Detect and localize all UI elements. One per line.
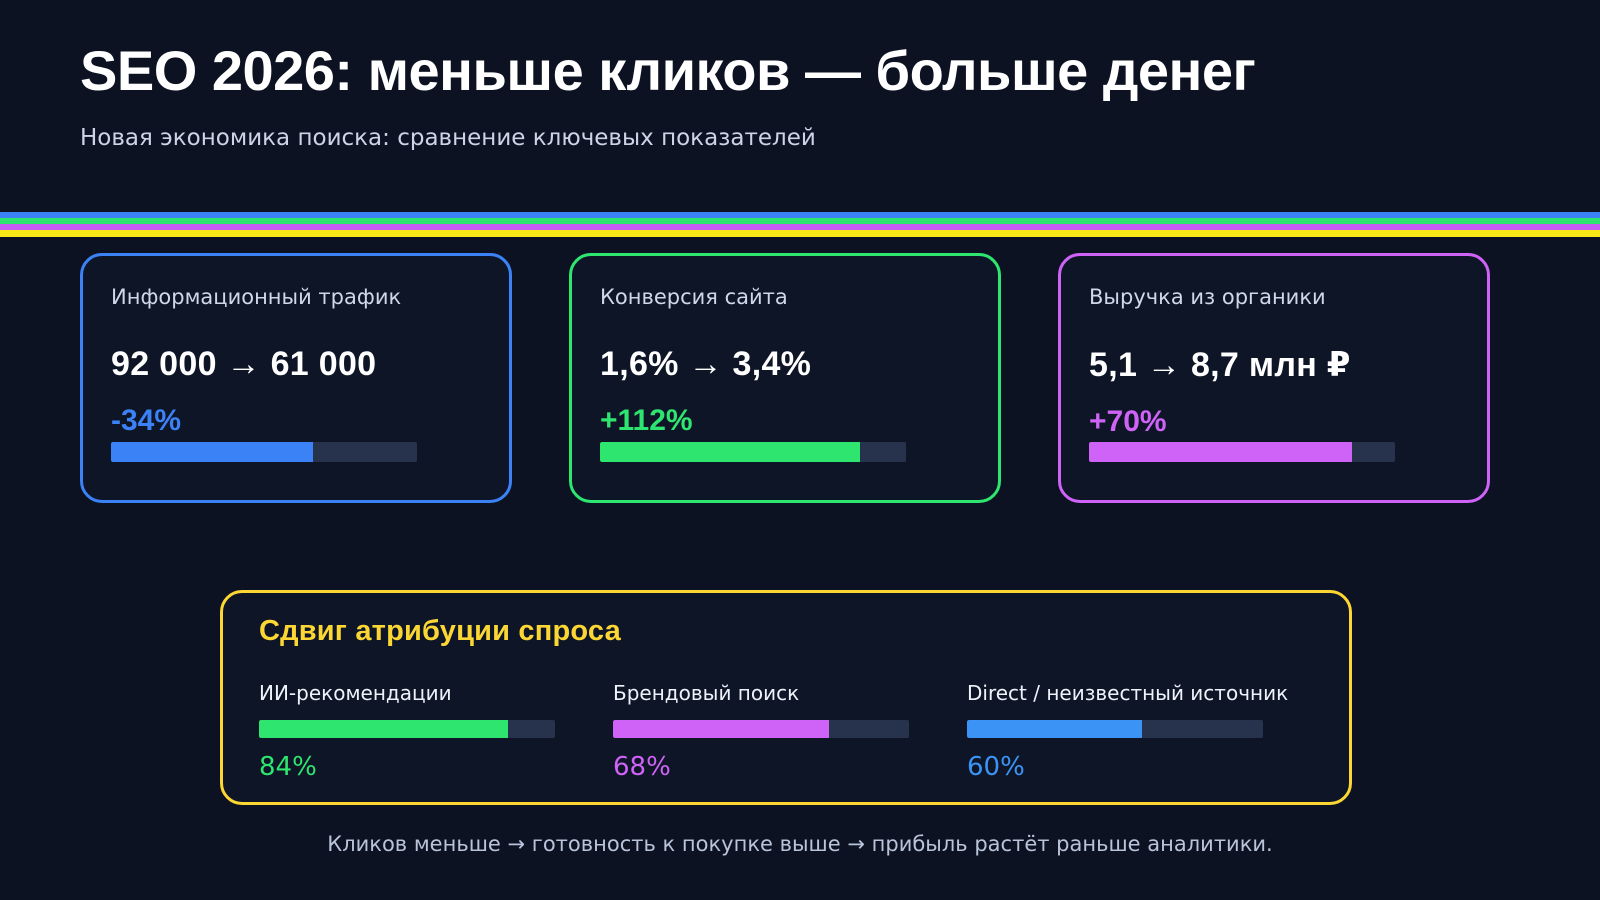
attribution-item-label: Брендовый поиск xyxy=(613,681,909,705)
metric-card-progress-fill xyxy=(1089,442,1352,462)
attribution-panel-title: Сдвиг атрибуции спроса xyxy=(259,615,1313,648)
page-title: SEO 2026: меньше кликов — больше денег xyxy=(80,42,1600,101)
attribution-progress-track xyxy=(259,720,555,738)
metric-cards-row: Информационный трафик 92 000 → 61 000 -3… xyxy=(80,253,1520,503)
rainbow-divider xyxy=(0,212,1600,237)
page-header: SEO 2026: меньше кликов — больше денег Н… xyxy=(0,0,1600,212)
metric-card-progress-fill xyxy=(600,442,860,462)
metric-card-value: 1,6% → 3,4% xyxy=(600,345,970,384)
attribution-item-direct-unknown[interactable]: Direct / неизвестный источник 60% xyxy=(967,681,1263,782)
attribution-progress-fill xyxy=(613,720,829,738)
page-subtitle: Новая экономика поиска: сравнение ключев… xyxy=(80,125,1600,151)
attribution-item-value: 84% xyxy=(259,752,555,782)
metric-card-progress-track xyxy=(600,442,906,462)
metric-card-revenue[interactable]: Выручка из органики 5,1 → 8,7 млн ₽ +70% xyxy=(1058,253,1490,503)
metric-card-progress-track xyxy=(111,442,417,462)
metric-card-label: Выручка из органики xyxy=(1089,285,1459,309)
attribution-item-brand-search[interactable]: Брендовый поиск 68% xyxy=(613,681,909,782)
metric-card-label: Информационный трафик xyxy=(111,285,481,309)
metric-card-conversion[interactable]: Конверсия сайта 1,6% → 3,4% +112% xyxy=(569,253,1001,503)
attribution-progress-track xyxy=(613,720,909,738)
metric-card-label: Конверсия сайта xyxy=(600,285,970,309)
divider-stripe-yellow xyxy=(0,230,1600,237)
attribution-item-label: ИИ-рекомендации xyxy=(259,681,555,705)
attribution-progress-track xyxy=(967,720,1263,738)
attribution-item-value: 68% xyxy=(613,752,909,782)
attribution-progress-fill xyxy=(259,720,508,738)
attribution-items: ИИ-рекомендации 84% Брендовый поиск 68% … xyxy=(259,681,1313,782)
attribution-item-ai-recommendations[interactable]: ИИ-рекомендации 84% xyxy=(259,681,555,782)
metric-card-progress-fill xyxy=(111,442,313,462)
metric-card-delta: -34% xyxy=(111,404,481,438)
metric-card-delta: +70% xyxy=(1089,405,1459,439)
attribution-progress-fill xyxy=(967,720,1142,738)
metric-card-traffic[interactable]: Информационный трафик 92 000 → 61 000 -3… xyxy=(80,253,512,503)
attribution-item-value: 60% xyxy=(967,752,1263,782)
footer-note: Кликов меньше → готовность к покупке выш… xyxy=(0,832,1600,856)
attribution-panel: Сдвиг атрибуции спроса ИИ-рекомендации 8… xyxy=(220,590,1352,805)
metric-card-value: 5,1 → 8,7 млн ₽ xyxy=(1089,345,1459,385)
metric-card-delta: +112% xyxy=(600,404,970,438)
metric-card-progress-track xyxy=(1089,442,1395,462)
metric-card-value: 92 000 → 61 000 xyxy=(111,345,481,384)
attribution-item-label: Direct / неизвестный источник xyxy=(967,681,1263,705)
